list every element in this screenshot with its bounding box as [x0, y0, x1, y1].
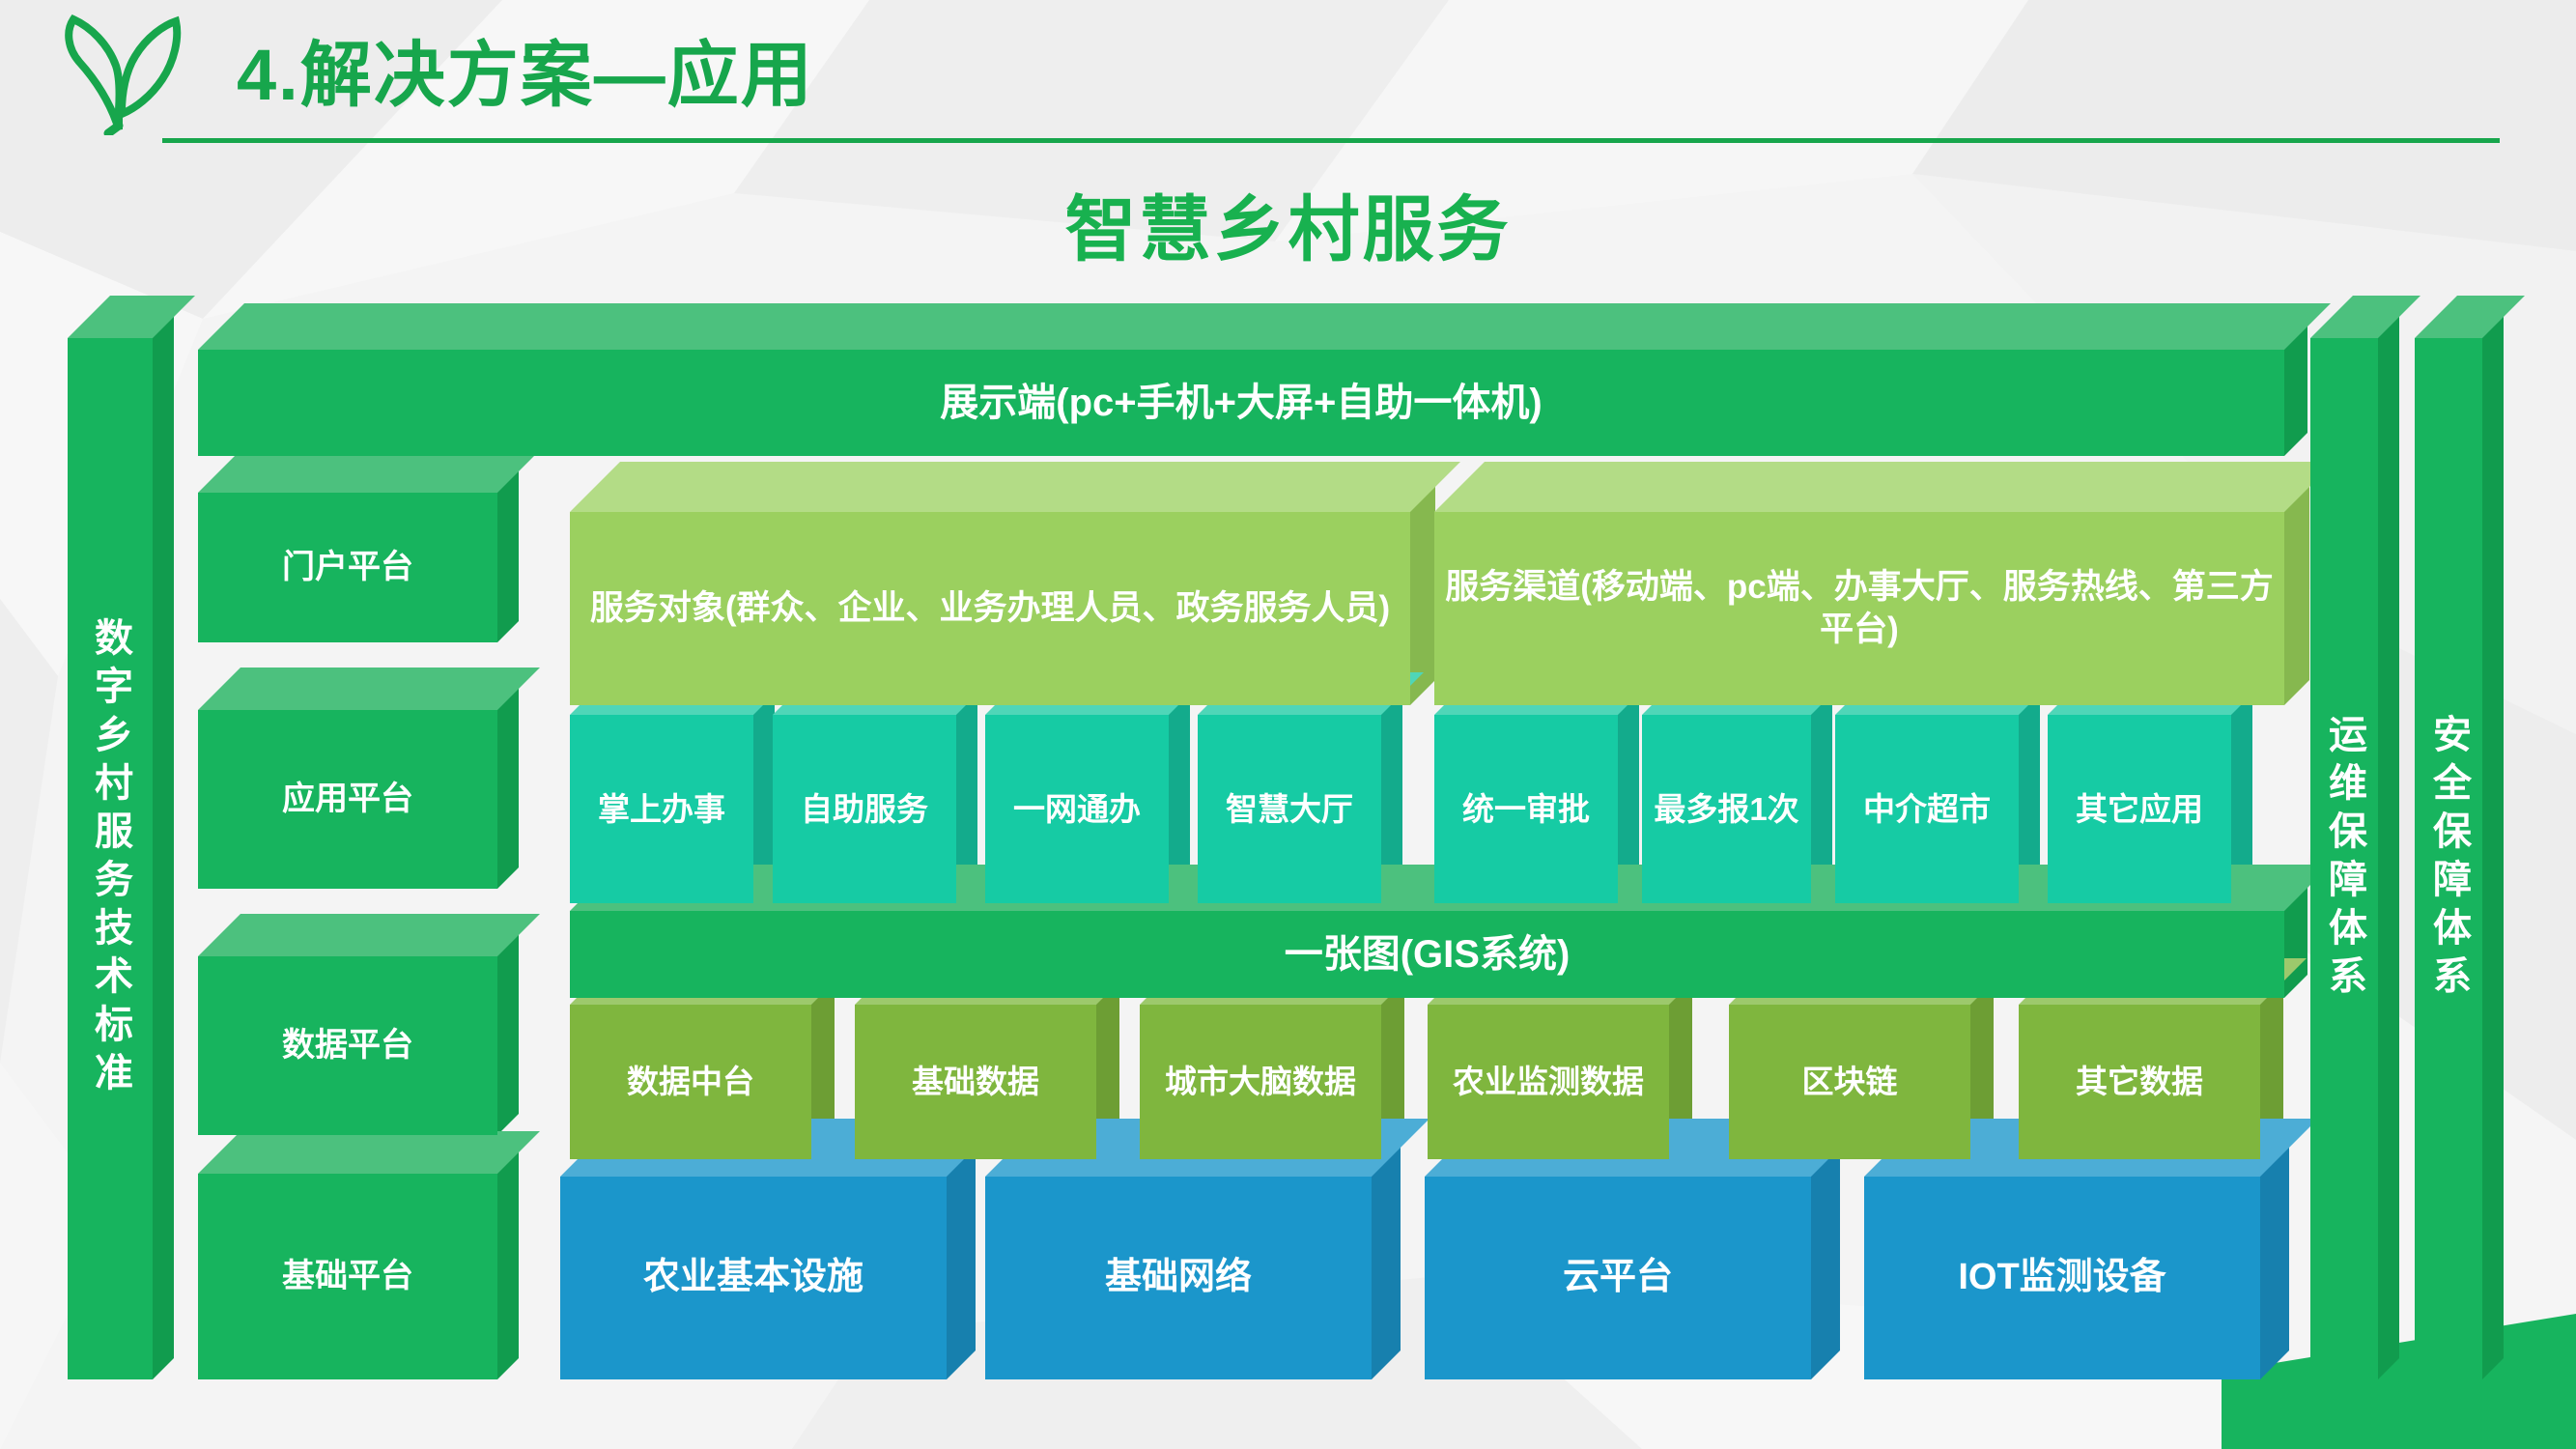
band-gis[interactable]: 一张图(GIS系统) [570, 911, 2284, 998]
infra-item-3[interactable]: 云平台 [1425, 1177, 1811, 1379]
portal-item-service-channels[interactable]: 服务渠道(移动端、pc端、办事大厅、服务热线、第三方平台) [1434, 512, 2284, 705]
box-top-face [198, 327, 2307, 350]
app-item-label: 中介超市 [1835, 715, 2019, 903]
layer-infrastructure-label: 基础平台 [198, 1174, 497, 1379]
portal-item-label: 服务渠道(移动端、pc端、办事大厅、服务热线、第三方平台) [1434, 512, 2284, 705]
app-item-label: 一网通办 [985, 715, 1169, 903]
box-side-face [1811, 1148, 1840, 1379]
data-item-3[interactable]: 城市大脑数据 [1140, 1005, 1381, 1159]
box-side-face [497, 471, 519, 642]
layer-data[interactable]: 数据平台 [198, 956, 497, 1135]
box-side-face [497, 935, 519, 1135]
box-top-face [198, 471, 519, 493]
app-item-6[interactable]: 最多报1次 [1642, 715, 1811, 903]
diagram-title: 智慧乡村服务 [0, 172, 2576, 275]
box-side-face [2482, 317, 2504, 1379]
app-item-2[interactable]: 自助服务 [773, 715, 956, 903]
box-side-face [947, 1148, 976, 1379]
app-item-label: 智慧大厅 [1198, 715, 1381, 903]
infra-item-1[interactable]: 农业基本设施 [560, 1177, 947, 1379]
pillar-right-security[interactable]: 安全保障体系 [2415, 338, 2482, 1379]
box-side-face [153, 317, 174, 1379]
page-header: 4.解决方案—应用 [0, 0, 2576, 155]
layer-application-label: 应用平台 [198, 710, 497, 889]
data-item-label: 数据中台 [570, 1005, 811, 1159]
infra-item-4[interactable]: IOT监测设备 [1864, 1177, 2260, 1379]
data-item-label: 其它数据 [2019, 1005, 2260, 1159]
pillar-left-label: 数字乡村服务技术标准 [68, 338, 153, 1379]
data-item-1[interactable]: 数据中台 [570, 1005, 811, 1159]
app-item-4[interactable]: 智慧大厅 [1198, 715, 1381, 903]
box-side-face [497, 689, 519, 889]
app-item-8[interactable]: 其它应用 [2048, 715, 2231, 903]
box-side-face [497, 1152, 519, 1379]
app-item-1[interactable]: 掌上办事 [570, 715, 753, 903]
box-top-face [198, 689, 519, 710]
app-item-label: 自助服务 [773, 715, 956, 903]
data-item-5[interactable]: 区块链 [1729, 1005, 1970, 1159]
infra-item-label: 云平台 [1425, 1177, 1811, 1379]
infra-item-label: 农业基本设施 [560, 1177, 947, 1379]
pillar-right-ops[interactable]: 运维保障体系 [2310, 338, 2378, 1379]
box-top-face [198, 1152, 519, 1174]
box-side-face [2260, 1148, 2289, 1379]
app-item-label: 统一审批 [1434, 715, 1618, 903]
band-display-label: 展示端(pc+手机+大屏+自助一体机) [198, 350, 2284, 456]
data-item-label: 城市大脑数据 [1140, 1005, 1381, 1159]
box-top-face [570, 487, 1435, 512]
box-side-face [1372, 1148, 1401, 1379]
infra-item-label: IOT监测设备 [1864, 1177, 2260, 1379]
data-item-label: 区块链 [1729, 1005, 1970, 1159]
app-item-3[interactable]: 一网通办 [985, 715, 1169, 903]
box-side-face [2378, 317, 2399, 1379]
data-item-label: 农业监测数据 [1428, 1005, 1669, 1159]
box-side-face [2284, 487, 2309, 705]
app-item-label: 最多报1次 [1642, 715, 1811, 903]
infra-item-label: 基础网络 [985, 1177, 1372, 1379]
data-item-6[interactable]: 其它数据 [2019, 1005, 2260, 1159]
layer-application[interactable]: 应用平台 [198, 710, 497, 889]
leaf-icon [58, 12, 184, 135]
portal-item-service-objects[interactable]: 服务对象(群众、企业、业务办理人员、政务服务人员) [570, 512, 1410, 705]
app-item-label: 掌上办事 [570, 715, 753, 903]
header-divider [162, 138, 2500, 143]
page-title: 4.解决方案—应用 [237, 17, 814, 121]
app-item-5[interactable]: 统一审批 [1434, 715, 1618, 903]
box-top-face [198, 935, 519, 956]
pillar-right-ops-label: 运维保障体系 [2310, 338, 2378, 1379]
layer-portal[interactable]: 门户平台 [198, 493, 497, 642]
pillar-right-security-label: 安全保障体系 [2415, 338, 2482, 1379]
pillar-left-standards[interactable]: 数字乡村服务技术标准 [68, 338, 153, 1379]
portal-item-label: 服务对象(群众、企业、业务办理人员、政务服务人员) [570, 512, 1410, 705]
data-item-2[interactable]: 基础数据 [855, 1005, 1096, 1159]
layer-data-label: 数据平台 [198, 956, 497, 1135]
band-gis-label: 一张图(GIS系统) [570, 911, 2284, 998]
layer-infrastructure[interactable]: 基础平台 [198, 1174, 497, 1379]
box-top-face [1434, 487, 2309, 512]
layer-portal-label: 门户平台 [198, 493, 497, 642]
band-display[interactable]: 展示端(pc+手机+大屏+自助一体机) [198, 350, 2284, 456]
app-item-label: 其它应用 [2048, 715, 2231, 903]
data-item-label: 基础数据 [855, 1005, 1096, 1159]
app-item-7[interactable]: 中介超市 [1835, 715, 2019, 903]
infra-item-2[interactable]: 基础网络 [985, 1177, 1372, 1379]
data-item-4[interactable]: 农业监测数据 [1428, 1005, 1669, 1159]
